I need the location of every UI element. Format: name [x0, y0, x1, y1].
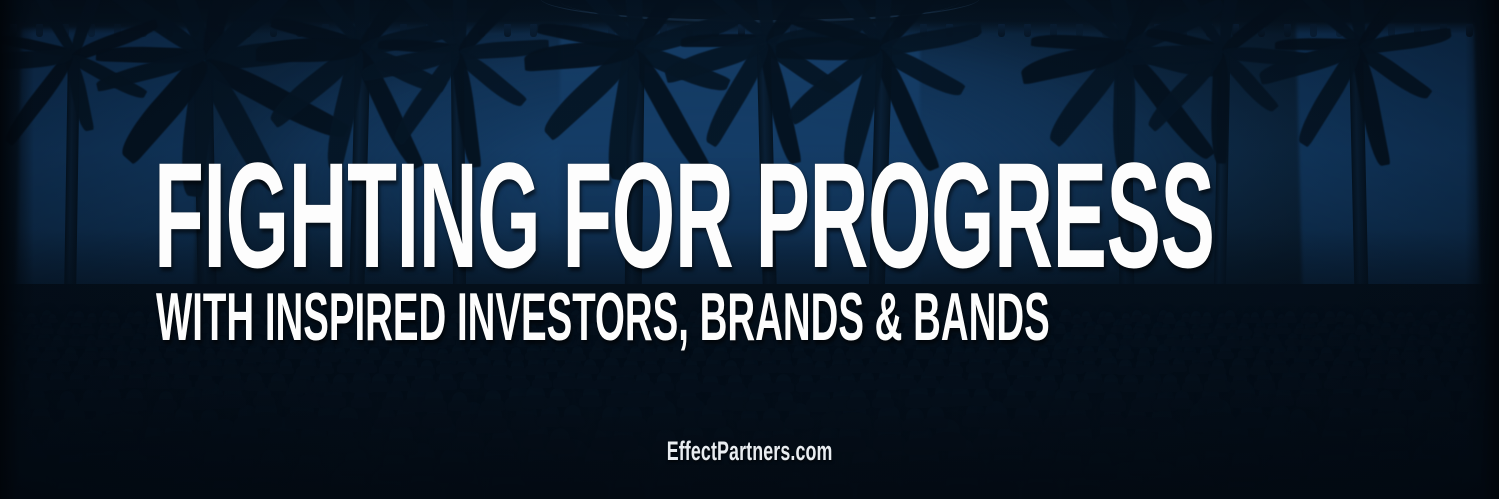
website-url-text: EffectPartners.com [667, 436, 833, 467]
banner-copy: FIGHTING FOR PROGRESS WITH INSPIRED INVE… [0, 0, 1499, 499]
headline: FIGHTING FOR PROGRESS [154, 140, 1499, 290]
website-url: EffectPartners.com [0, 436, 1499, 467]
subheadline: WITH INSPIRED INVESTORS, BRANDS & BANDS [156, 283, 1456, 351]
social-banner: FIGHTING FOR PROGRESS WITH INSPIRED INVE… [0, 0, 1499, 499]
